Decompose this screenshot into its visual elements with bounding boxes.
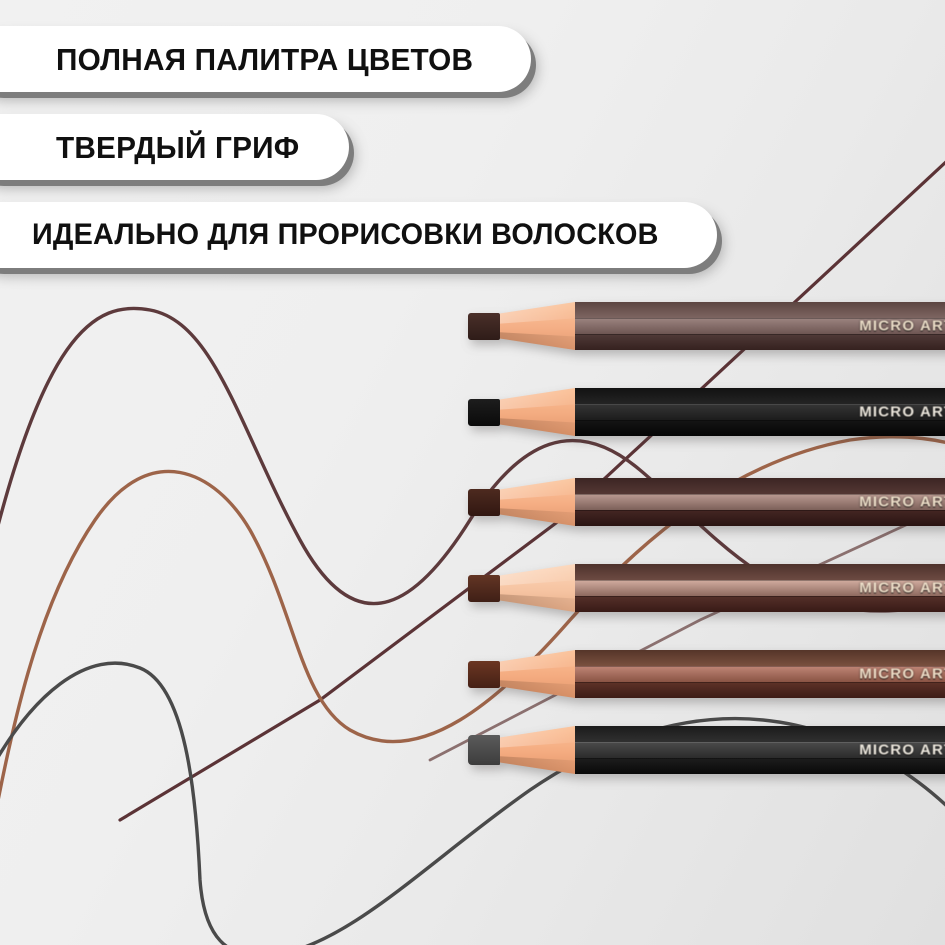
pencil-lead [468,399,500,426]
pencil-wood-cone [500,478,575,526]
promo-canvas: MICRO ART™ CO MICRO ART™ CO [0,0,945,945]
pencil-barrel: MICRO ART™ CO [575,650,945,698]
feature-badge-list: ПОЛНАЯ ПАЛИТРА ЦВЕТОВ ТВЕРДЫЙ ГРИФ ИДЕАЛ… [0,26,826,290]
feature-badge-hardness[interactable]: ТВЕРДЫЙ ГРИФ [0,114,349,180]
pencil-barrel: MICRO ART™ CO [575,302,945,350]
pencil-lead [468,489,500,516]
feature-badge-label: ИДЕАЛЬНО ДЛЯ ПРОРИСОВКИ ВОЛОСКОВ [32,220,659,250]
pencil-6-charcoal[interactable]: MICRO ART™ CO [468,726,945,774]
pencil-1-dark-brown[interactable]: MICRO ART™ CO [468,302,945,350]
pencil-barrel: MICRO ART™ CO [575,726,945,774]
pencil-wood-cone [500,388,575,436]
pencil-lead [468,575,500,602]
pencil-lead [468,313,500,340]
pencil-wood-cone [500,302,575,350]
pencil-wood-cone [500,650,575,698]
feature-badge-label: ТВЕРДЫЙ ГРИФ [56,132,299,163]
pencil-4-taupe[interactable]: MICRO ART™ CO [468,564,945,612]
feature-badge-hairs[interactable]: ИДЕАЛЬНО ДЛЯ ПРОРИСОВКИ ВОЛОСКОВ [0,202,717,268]
pencil-lead [468,735,500,765]
pencil-5-warm-brown[interactable]: MICRO ART™ CO [468,650,945,698]
pencil-barrel: MICRO ART™ CO [575,478,945,526]
pencil-wood-cone [500,726,575,774]
pencil-lead [468,661,500,688]
pencil-3-espresso[interactable]: MICRO ART™ CO [468,478,945,526]
feature-badge-label: ПОЛНАЯ ПАЛИТРА ЦВЕТОВ [56,44,473,75]
feature-badge-palette[interactable]: ПОЛНАЯ ПАЛИТРА ЦВЕТОВ [0,26,531,92]
pencil-barrel: MICRO ART™ CO [575,564,945,612]
pencil-2-black[interactable]: MICRO ART™ CO [468,388,945,436]
pencil-barrel: MICRO ART™ CO [575,388,945,436]
pencil-wood-cone [500,564,575,612]
